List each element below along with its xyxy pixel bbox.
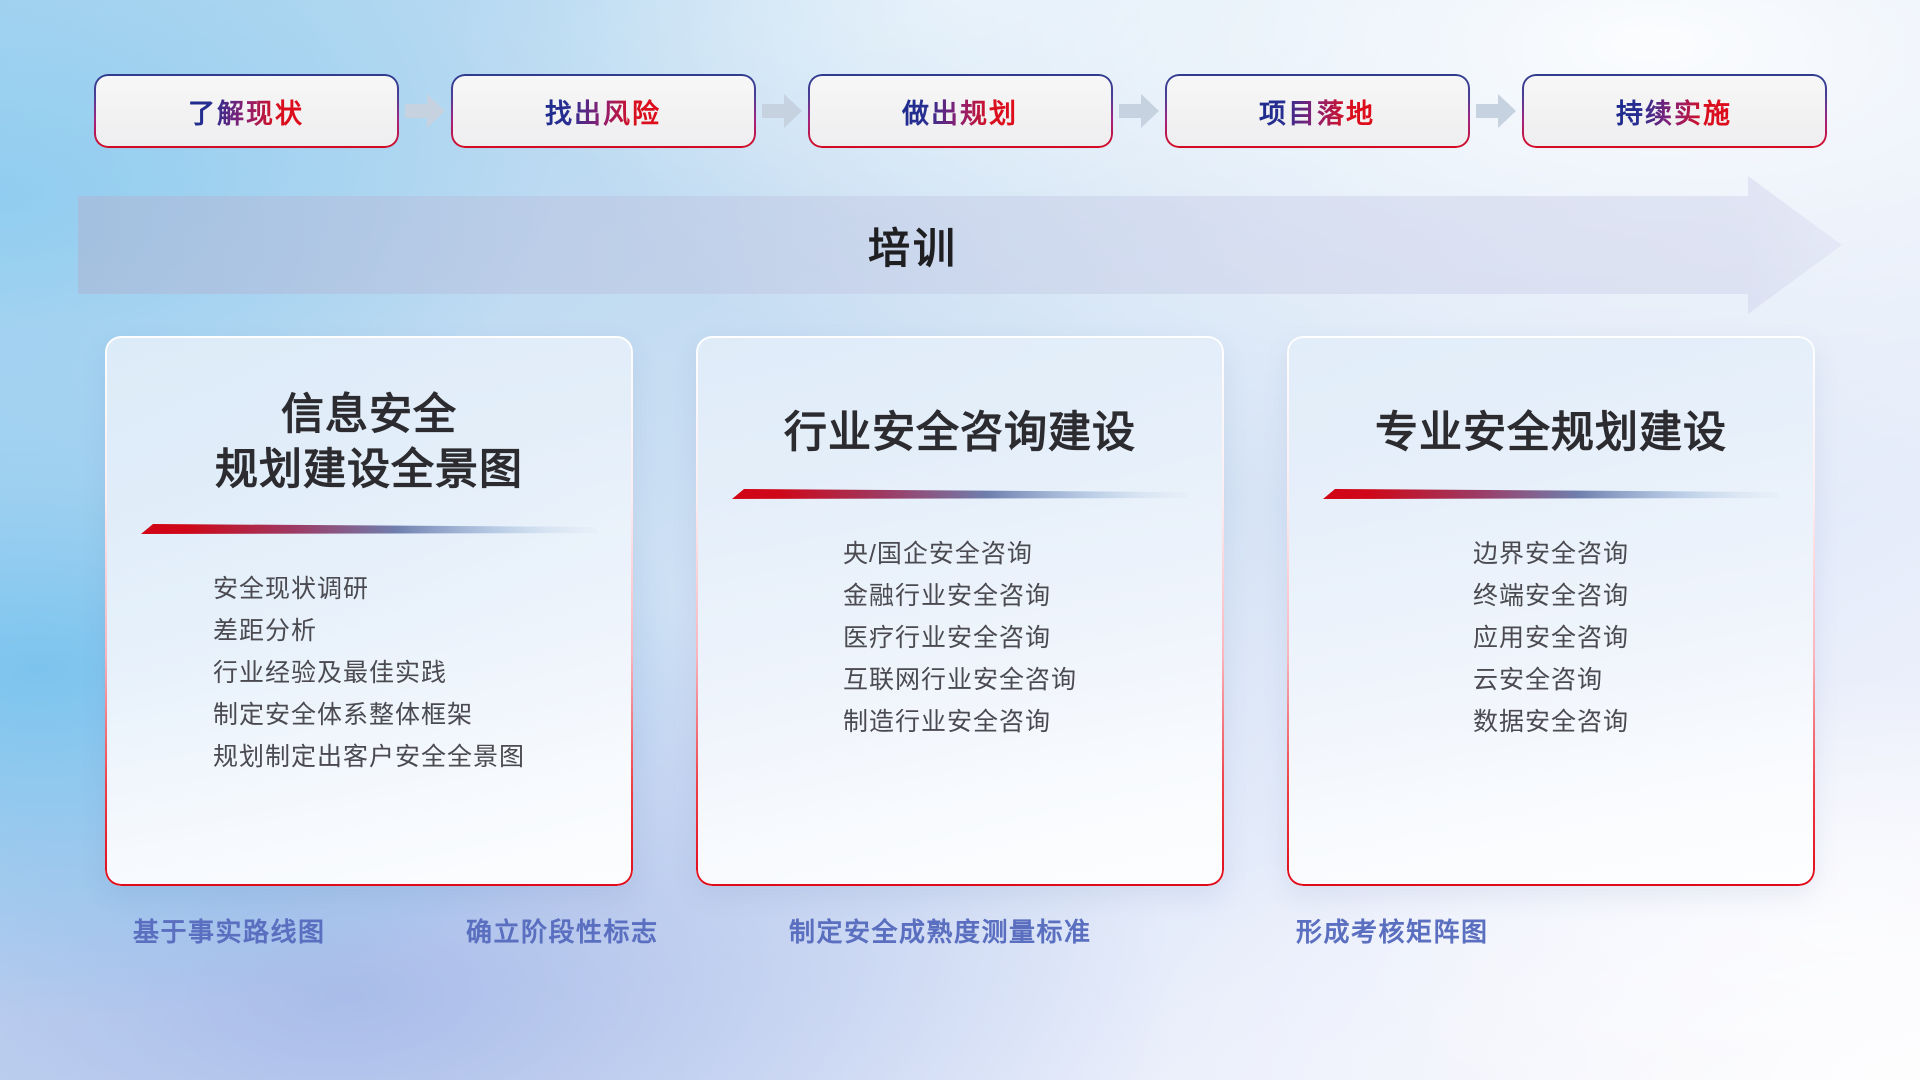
- right-arrow-icon: [1111, 91, 1167, 131]
- step-pill-3[interactable]: 做出规划: [810, 76, 1111, 146]
- red-gradient-divider: [732, 485, 1188, 507]
- list-item: 规划制定出客户安全全景图: [213, 736, 525, 778]
- card-1-title-line2: 规划建设全景图: [215, 443, 523, 498]
- list-item: 差距分析: [213, 610, 525, 652]
- step-pill-4[interactable]: 项目落地: [1167, 76, 1468, 146]
- card-1[interactable]: 信息安全 规划建设全景图: [105, 336, 633, 886]
- card-3-title: 专业安全规划建设: [1375, 388, 1727, 461]
- step-label-1: 了解现状: [188, 92, 304, 131]
- card-3-title-line1: 专业安全规划建设: [1375, 409, 1727, 457]
- list-item: 终端安全咨询: [1473, 575, 1629, 617]
- card-2-title-line1: 行业安全咨询建设: [784, 409, 1136, 457]
- red-gradient-divider: [141, 520, 597, 542]
- step-label-3: 做出规划: [902, 92, 1018, 131]
- list-item: 制造行业安全咨询: [843, 701, 1077, 743]
- step-4[interactable]: 项目落地: [1167, 76, 1468, 146]
- list-item: 行业经验及最佳实践: [213, 652, 525, 694]
- outcome-label-1: 基于事实路线图: [133, 912, 326, 949]
- list-item: 互联网行业安全咨询: [843, 659, 1077, 701]
- training-banner: 培训: [78, 196, 1842, 294]
- list-item: 应用安全咨询: [1473, 617, 1629, 659]
- banner-title: 培训: [78, 196, 1748, 294]
- list-item: 金融行业安全咨询: [843, 575, 1077, 617]
- step-5[interactable]: 持续实施: [1524, 76, 1825, 146]
- outcome-label-4: 形成考核矩阵图: [1296, 912, 1489, 949]
- list-item: 云安全咨询: [1473, 659, 1629, 701]
- step-label-5: 持续实施: [1616, 92, 1732, 131]
- process-steps: 了解现状 找出风险 做出规划 项目落地: [0, 75, 1920, 147]
- card-1-list: 安全现状调研 差距分析 行业经验及最佳实践 制定安全体系整体框架 规划制定出客户…: [213, 568, 525, 778]
- list-item: 安全现状调研: [213, 568, 525, 610]
- banner-arrow-tip-icon: [1748, 176, 1842, 314]
- slide-stage: 了解现状 找出风险 做出规划 项目落地: [0, 0, 1920, 1080]
- card-1-title: 信息安全 规划建设全景图: [215, 388, 523, 498]
- outcome-label-3: 制定安全成熟度测量标准: [789, 912, 1092, 949]
- right-arrow-icon: [1468, 91, 1524, 131]
- step-label-2: 找出风险: [545, 92, 661, 131]
- outcome-labels: 基于事实路线图 确立阶段性标志 制定安全成熟度测量标准 形成考核矩阵图: [0, 912, 1920, 968]
- step-1[interactable]: 了解现状: [96, 76, 397, 146]
- step-2[interactable]: 找出风险: [453, 76, 754, 146]
- step-label-4: 项目落地: [1259, 92, 1375, 131]
- card-3[interactable]: 专业安全规划建设: [1287, 336, 1815, 886]
- outcome-label-2: 确立阶段性标志: [466, 912, 659, 949]
- list-item: 数据安全咨询: [1473, 701, 1629, 743]
- card-2-list: 央/国企安全咨询 金融行业安全咨询 医疗行业安全咨询 互联网行业安全咨询 制造行…: [843, 533, 1077, 743]
- step-pill-5[interactable]: 持续实施: [1524, 76, 1825, 146]
- step-pill-1[interactable]: 了解现状: [96, 76, 397, 146]
- capability-cards: 信息安全 规划建设全景图: [0, 336, 1920, 886]
- list-item: 边界安全咨询: [1473, 533, 1629, 575]
- list-item: 制定安全体系整体框架: [213, 694, 525, 736]
- step-pill-2[interactable]: 找出风险: [453, 76, 754, 146]
- card-3-list: 边界安全咨询 终端安全咨询 应用安全咨询 云安全咨询 数据安全咨询: [1473, 533, 1629, 743]
- card-2[interactable]: 行业安全咨询建设: [696, 336, 1224, 886]
- card-2-title: 行业安全咨询建设: [784, 388, 1136, 461]
- step-3[interactable]: 做出规划: [810, 76, 1111, 146]
- list-item: 央/国企安全咨询: [843, 533, 1077, 575]
- list-item: 医疗行业安全咨询: [843, 617, 1077, 659]
- right-arrow-icon: [397, 91, 453, 131]
- card-1-title-line1: 信息安全: [281, 391, 457, 439]
- right-arrow-icon: [754, 91, 810, 131]
- red-gradient-divider: [1323, 485, 1779, 507]
